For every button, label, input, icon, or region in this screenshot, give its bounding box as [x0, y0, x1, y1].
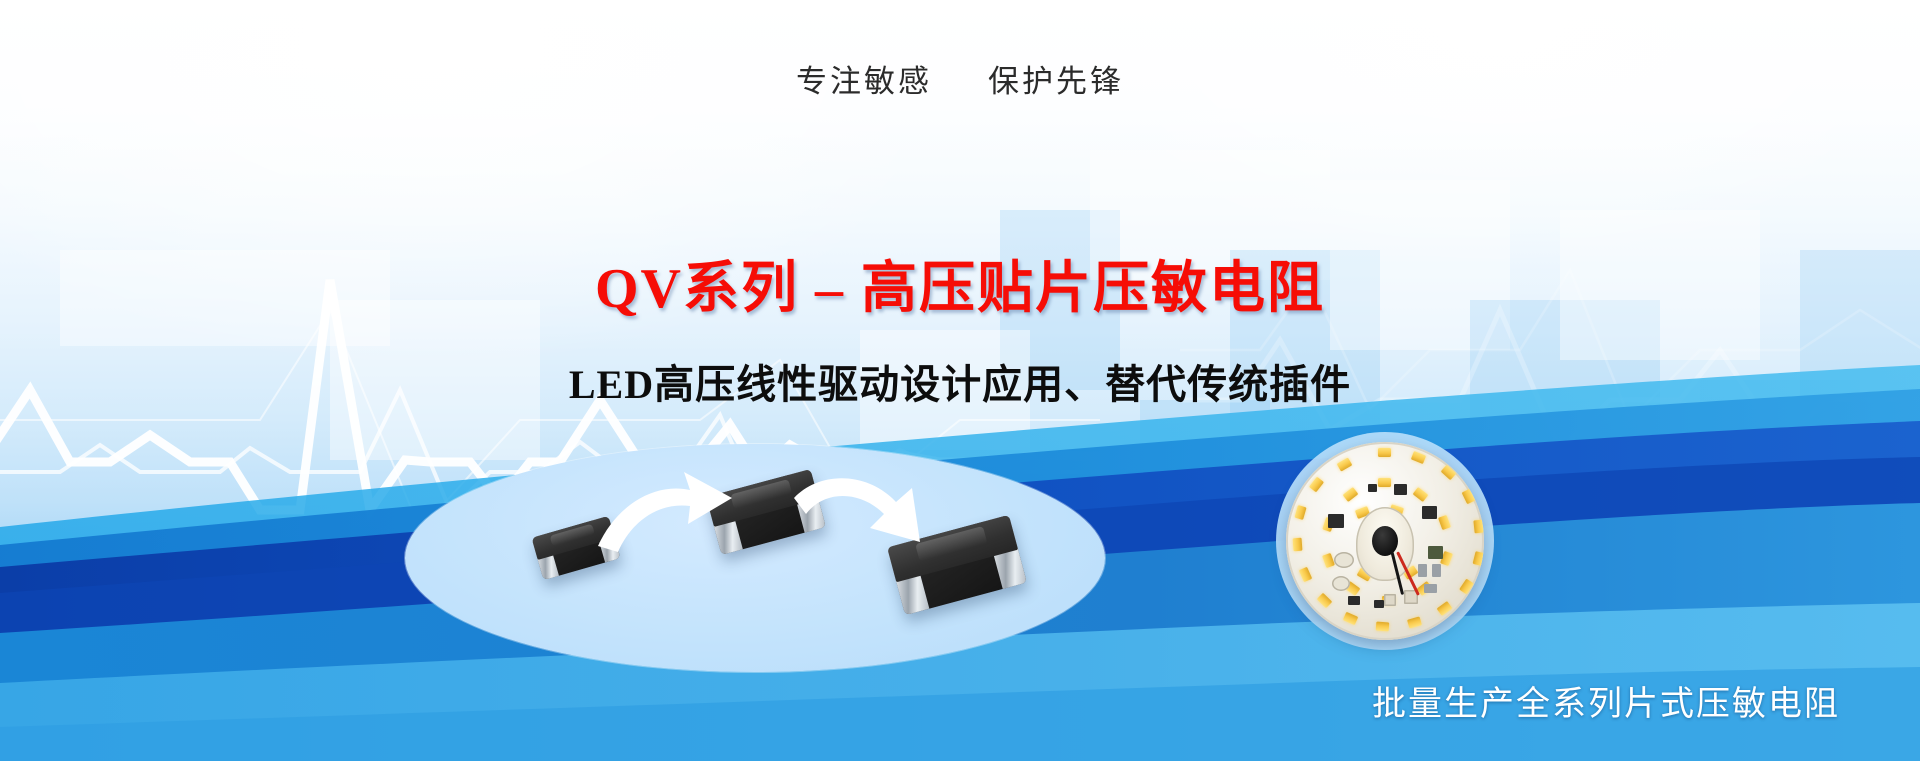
page-subtitle: LED高压线性驱动设计应用、替代传统插件	[0, 352, 1920, 410]
arrow-up-right-icon	[592, 468, 742, 558]
arrow-down-right-icon	[788, 468, 938, 568]
promo-banner: 专注敏感保护先锋 QV系列 – 高压贴片压敏电阻 LED高压线性驱动设计应用、替…	[0, 0, 1920, 761]
tagline-right: 保护先锋	[988, 64, 1124, 99]
page-title: QV系列 – 高压贴片压敏电阻	[0, 243, 1920, 324]
tagline-left: 专注敏感	[796, 64, 932, 99]
tagline: 专注敏感保护先锋	[0, 56, 1920, 101]
led-pcb-module	[1276, 432, 1494, 650]
footnote-caption: 批量生产全系列片式压敏电阻	[1372, 676, 1840, 725]
